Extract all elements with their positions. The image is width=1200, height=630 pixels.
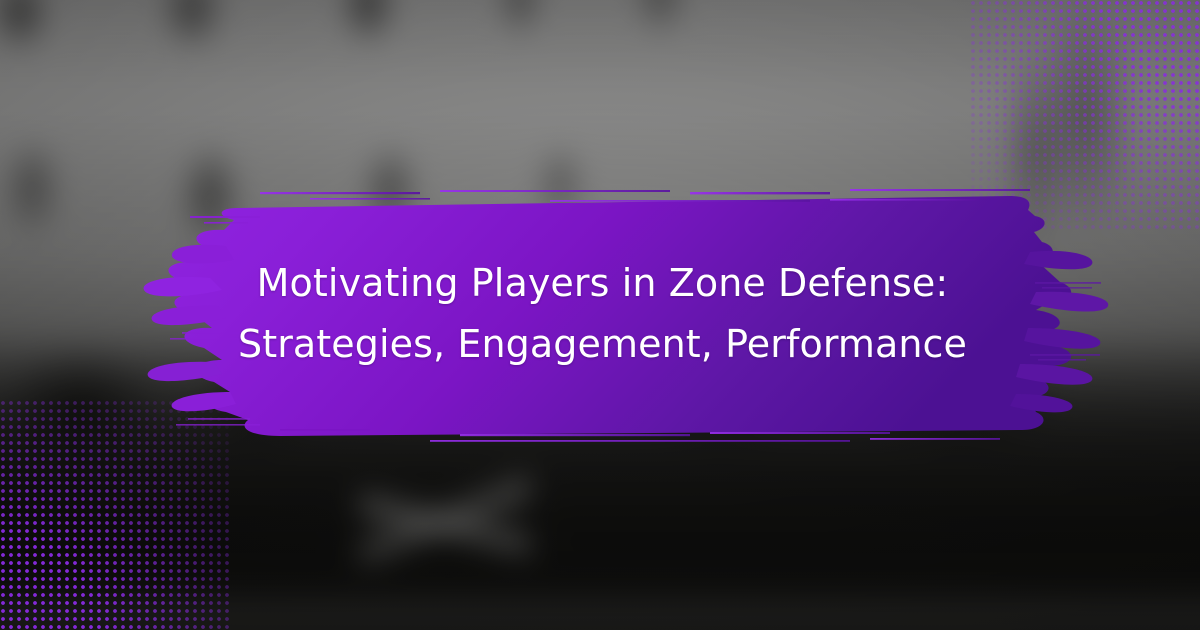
- page-title: Motivating Players in Zone Defense: Stra…: [130, 186, 1075, 442]
- title-line-1: Motivating Players in Zone Defense:: [257, 258, 949, 309]
- title-line-2: Strategies, Engagement, Performance: [238, 319, 967, 370]
- social-share-card: Motivating Players in Zone Defense: Stra…: [0, 0, 1200, 630]
